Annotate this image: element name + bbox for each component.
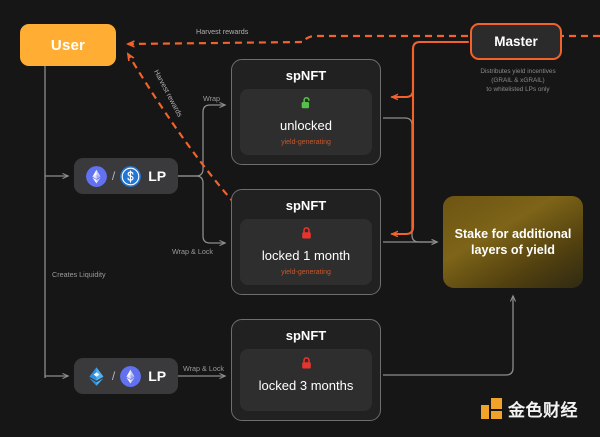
master-caption-line-1: Distributes yield incentives	[448, 67, 588, 76]
stake-line-2: layers of yield	[471, 243, 555, 257]
spnft-title: spNFT	[240, 328, 372, 343]
stake-line-1: Stake for additional	[455, 227, 572, 241]
master-caption: Distributes yield incentives (GRAIL & xG…	[448, 67, 588, 94]
spnft-card-locked-3-months[interactable]: spNFT locked 3 months	[231, 319, 381, 421]
watermark: 金色财经	[481, 396, 578, 421]
locked-padlock-icon	[246, 226, 366, 244]
unlocked-padlock-icon	[246, 96, 366, 114]
edge-label-wrap-lock-bottom: Wrap & Lock	[183, 364, 224, 373]
ethereum-icon	[120, 366, 141, 387]
spnft-title: spNFT	[240, 68, 372, 83]
watermark-text: 金色财经	[508, 396, 578, 421]
diagram-canvas: User Master Distributes yield incentives…	[0, 0, 600, 437]
pair-separator: /	[112, 169, 115, 183]
lp-pair-label-2: LP	[148, 368, 166, 384]
spnft-card-locked-1-month[interactable]: spNFT locked 1 month yield-generating	[231, 189, 381, 295]
lp-pair-label-1: LP	[148, 168, 166, 184]
usdc-icon	[120, 166, 141, 187]
edge-label-harvest-diagonal: Harvest rewards	[152, 68, 185, 118]
spnft-title: spNFT	[240, 198, 372, 213]
spnft-state-panel: unlocked yield-generating	[240, 89, 372, 155]
master-node[interactable]: Master	[470, 23, 562, 60]
edge-label-harvest-top: Harvest rewards	[196, 27, 248, 36]
spnft-state-panel: locked 1 month yield-generating	[240, 219, 372, 285]
edge-label-wrap: Wrap	[203, 94, 220, 103]
stake-node-label: Stake for additional layers of yield	[455, 226, 572, 258]
user-node-label: User	[51, 37, 85, 54]
spnft-state-panel: locked 3 months	[240, 349, 372, 411]
edge-label-wrap-lock-mid: Wrap & Lock	[172, 247, 213, 256]
spnft-yield-label: yield-generating	[246, 139, 366, 146]
user-node[interactable]: User	[20, 24, 116, 66]
spnft-state-label: locked 1 month	[246, 248, 366, 263]
edge-label-creates-liquidity: Creates Liquidity	[52, 270, 106, 279]
locked-padlock-icon	[246, 356, 366, 374]
ethereum-icon	[86, 166, 107, 187]
master-caption-line-3: to whitelisted LPs only	[448, 85, 588, 94]
spnft-state-label: locked 3 months	[246, 378, 366, 393]
spnft-yield-label: yield-generating	[246, 269, 366, 276]
master-caption-line-2: (GRAIL & xGRAIL)	[448, 76, 588, 85]
stake-node[interactable]: Stake for additional layers of yield	[443, 196, 583, 288]
master-node-label: Master	[494, 34, 538, 49]
jinse-logo-icon	[481, 398, 502, 419]
ethereum-blue-icon	[86, 366, 107, 387]
spnft-state-label: unlocked	[246, 118, 366, 133]
lp-pair-node-2[interactable]: / LP	[74, 358, 178, 394]
pair-separator: /	[112, 369, 115, 383]
lp-pair-node-1[interactable]: / LP	[74, 158, 178, 194]
spnft-card-unlocked[interactable]: spNFT unlocked yield-generating	[231, 59, 381, 165]
